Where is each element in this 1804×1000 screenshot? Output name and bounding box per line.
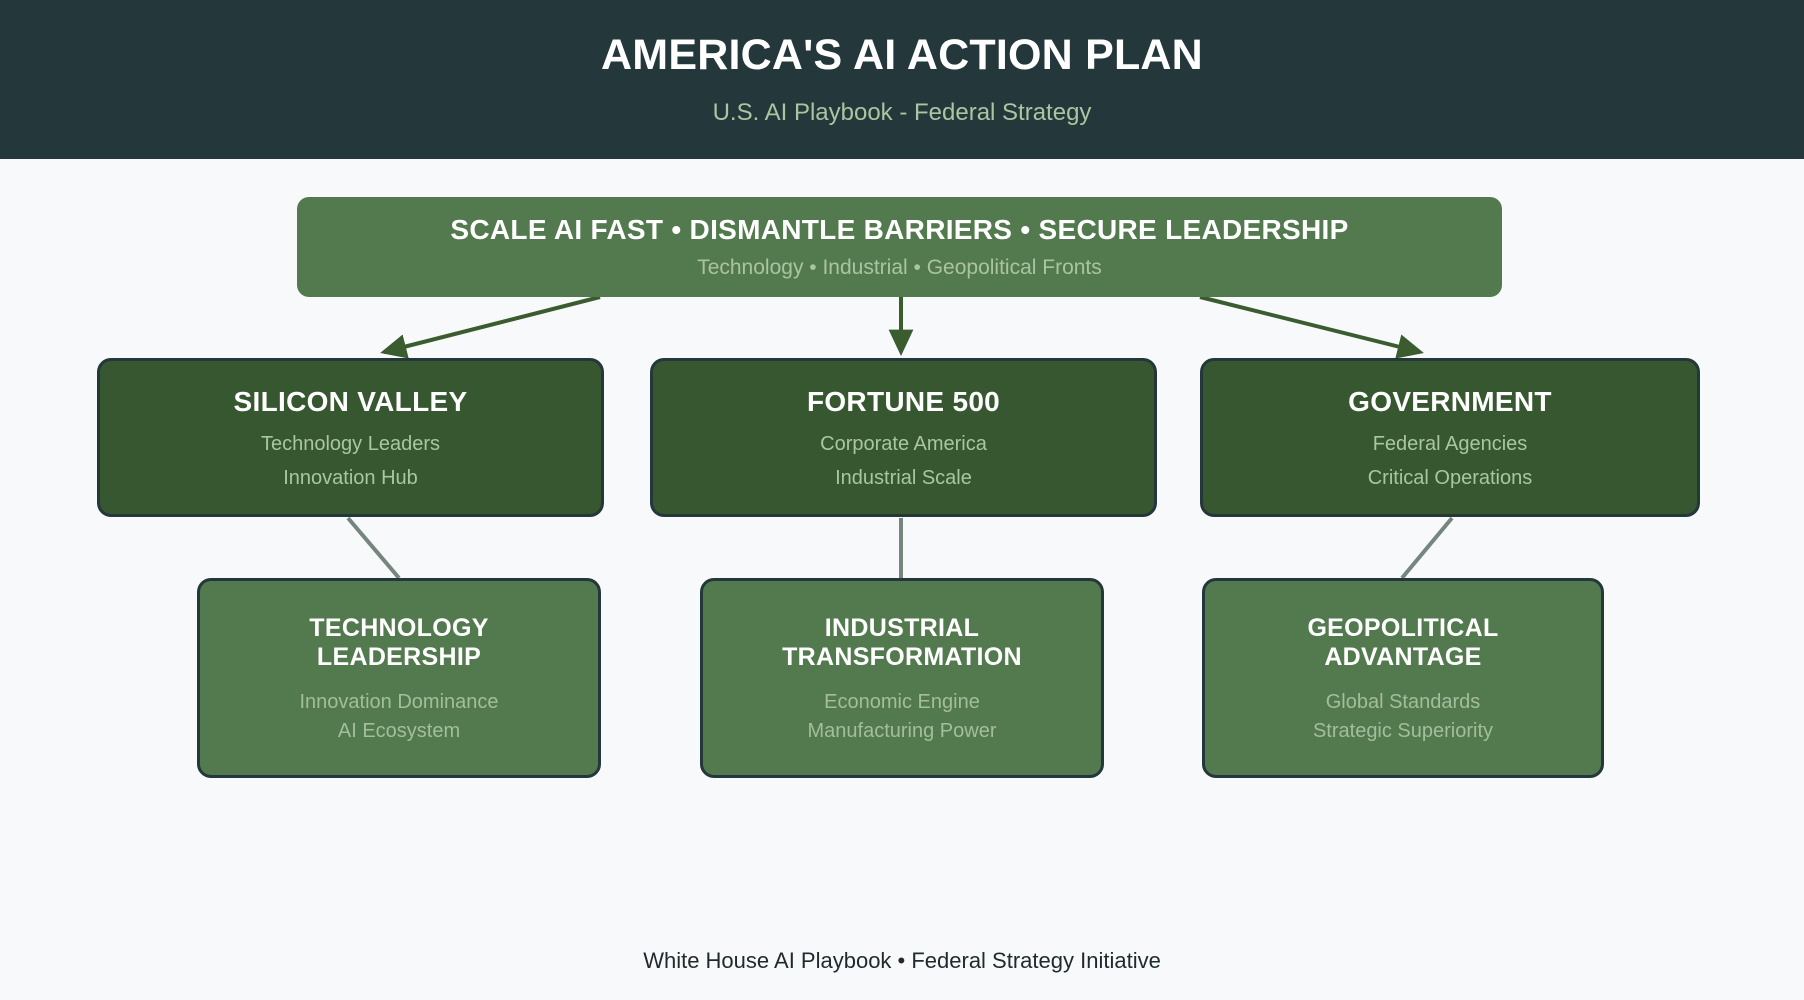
node-title: GOVERNMENT	[1348, 385, 1552, 418]
node-subtitle-1: Federal Agencies	[1373, 432, 1528, 456]
node-subtitle-1: Innovation Dominance	[299, 690, 498, 714]
node-subtitle-1: Global Standards	[1326, 690, 1481, 714]
node-silicon-valley[interactable]: SILICON VALLEY Technology Leaders Innova…	[97, 358, 604, 517]
node-geopolitical-advantage[interactable]: GEOPOLITICAL ADVANTAGE Global Standards …	[1202, 578, 1604, 778]
page-title: AMERICA'S AI ACTION PLAN	[601, 34, 1203, 77]
strategy-banner-title: SCALE AI FAST • DISMANTLE BARRIERS • SEC…	[450, 213, 1348, 246]
node-title-line-2: LEADERSHIP	[317, 643, 481, 673]
node-title-line-1: INDUSTRIAL	[825, 614, 979, 644]
strategy-banner[interactable]: SCALE AI FAST • DISMANTLE BARRIERS • SEC…	[297, 197, 1502, 297]
node-title-line-1: GEOPOLITICAL	[1307, 614, 1498, 644]
node-title-line-1: TECHNOLOGY	[309, 614, 488, 644]
strategy-banner-subtitle: Technology • Industrial • Geopolitical F…	[697, 255, 1102, 280]
node-subtitle-1: Economic Engine	[824, 690, 980, 714]
node-government[interactable]: GOVERNMENT Federal Agencies Critical Ope…	[1200, 358, 1700, 517]
node-subtitle-2: Innovation Hub	[283, 466, 418, 490]
node-subtitle-2: Critical Operations	[1368, 466, 1533, 490]
node-subtitle-1: Corporate America	[820, 432, 987, 456]
node-subtitle-2: Industrial Scale	[835, 466, 972, 490]
node-technology-leadership[interactable]: TECHNOLOGY LEADERSHIP Innovation Dominan…	[197, 578, 601, 778]
arrow-banner-to-government	[1200, 297, 1420, 352]
connector-government-to-geopolitical-advantage	[1402, 518, 1452, 578]
node-subtitle-2: Strategic Superiority	[1313, 719, 1493, 743]
footer-caption: White House AI Playbook • Federal Strate…	[0, 948, 1804, 974]
node-subtitle-2: Manufacturing Power	[808, 719, 997, 743]
node-subtitle-2: AI Ecosystem	[338, 719, 460, 743]
node-title-line-2: TRANSFORMATION	[782, 643, 1022, 673]
connector-silicon-valley-to-technology-leadership	[348, 518, 399, 578]
node-subtitle-1: Technology Leaders	[261, 432, 440, 456]
diagram-canvas: AMERICA'S AI ACTION PLAN U.S. AI Playboo…	[0, 0, 1804, 1000]
arrow-banner-to-silicon-valley	[384, 297, 600, 352]
page-subtitle: U.S. AI Playbook - Federal Strategy	[713, 101, 1092, 125]
node-title: SILICON VALLEY	[234, 385, 468, 418]
node-fortune-500[interactable]: FORTUNE 500 Corporate America Industrial…	[650, 358, 1157, 517]
node-industrial-transformation[interactable]: INDUSTRIAL TRANSFORMATION Economic Engin…	[700, 578, 1104, 778]
page-header: AMERICA'S AI ACTION PLAN U.S. AI Playboo…	[0, 0, 1804, 159]
node-title: FORTUNE 500	[807, 385, 1000, 418]
node-title-line-2: ADVANTAGE	[1324, 643, 1481, 673]
